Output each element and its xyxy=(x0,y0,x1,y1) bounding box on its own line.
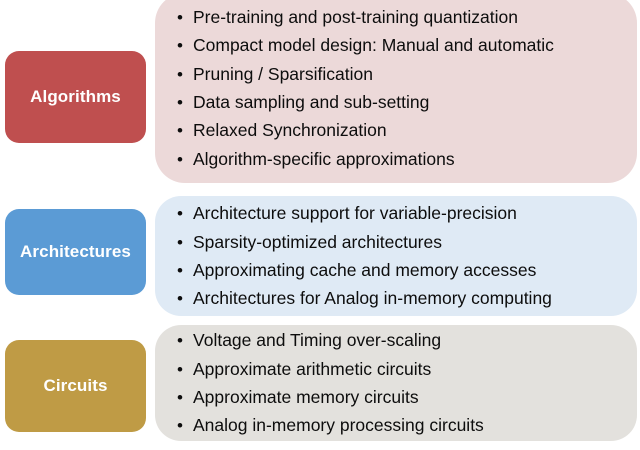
list-item: • Relaxed Synchronization xyxy=(177,116,623,144)
bullet-icon: • xyxy=(177,234,193,251)
list-item: • Approximating cache and memory accesse… xyxy=(177,256,623,284)
bullet-icon: • xyxy=(177,262,193,279)
list-item-label: Pruning / Sparsification xyxy=(193,60,373,88)
category-chip-label: Architectures xyxy=(20,242,131,262)
list-item: • Analog in-memory processing circuits xyxy=(177,411,623,439)
list-item-label: Compact model design: Manual and automat… xyxy=(193,31,554,59)
list-item: • Data sampling and sub-setting xyxy=(177,88,623,116)
list-item-label: Approximating cache and memory accesses xyxy=(193,256,536,284)
list-item-label: Pre-training and post-training quantizat… xyxy=(193,3,518,31)
techniques-panel-architectures: • Architecture support for variable-prec… xyxy=(155,196,637,316)
category-chip-architectures[interactable]: Architectures xyxy=(5,209,146,295)
list-item: • Voltage and Timing over-scaling xyxy=(177,326,623,354)
category-chip-algorithms[interactable]: Algorithms xyxy=(5,51,146,143)
list-item: • Architectures for Analog in-memory com… xyxy=(177,284,623,312)
list-item-label: Relaxed Synchronization xyxy=(193,116,387,144)
list-item-label: Approximate arithmetic circuits xyxy=(193,355,431,383)
list-item: • Pre-training and post-training quantiz… xyxy=(177,3,623,31)
bullet-icon: • xyxy=(177,361,193,378)
list-item-label: Voltage and Timing over-scaling xyxy=(193,326,441,354)
bullet-icon: • xyxy=(177,290,193,307)
list-item-label: Analog in-memory processing circuits xyxy=(193,411,484,439)
list-item-label: Data sampling and sub-setting xyxy=(193,88,429,116)
bullet-icon: • xyxy=(177,389,193,406)
bullet-icon: • xyxy=(177,332,193,349)
list-item-label: Architecture support for variable-precis… xyxy=(193,199,517,227)
diagram-row-algorithms: Algorithms • Pre-training and post-train… xyxy=(0,0,640,190)
list-item-label: Approximate memory circuits xyxy=(193,383,419,411)
list-item: • Compact model design: Manual and autom… xyxy=(177,31,623,59)
list-item: • Algorithm-specific approximations xyxy=(177,145,623,173)
list-item: • Approximate memory circuits xyxy=(177,383,623,411)
bullet-icon: • xyxy=(177,122,193,139)
bullet-icon: • xyxy=(177,94,193,111)
diagram-row-architectures: Architectures • Architecture support for… xyxy=(0,193,640,315)
list-item-label: Architectures for Analog in-memory compu… xyxy=(193,284,552,312)
list-item: • Approximate arithmetic circuits xyxy=(177,355,623,383)
bullet-icon: • xyxy=(177,9,193,26)
list-item-label: Sparsity-optimized architectures xyxy=(193,228,442,256)
category-chip-label: Algorithms xyxy=(30,87,121,107)
bullet-icon: • xyxy=(177,151,193,168)
diagram-row-circuits: Circuits • Voltage and Timing over-scali… xyxy=(0,322,640,442)
bullet-icon: • xyxy=(177,417,193,434)
bullet-icon: • xyxy=(177,205,193,222)
techniques-panel-algorithms: • Pre-training and post-training quantiz… xyxy=(155,0,637,183)
techniques-panel-circuits: • Voltage and Timing over-scaling • Appr… xyxy=(155,325,637,441)
list-item-label: Algorithm-specific approximations xyxy=(193,145,455,173)
category-chip-label: Circuits xyxy=(43,376,107,396)
bullet-icon: • xyxy=(177,66,193,83)
list-item: • Pruning / Sparsification xyxy=(177,60,623,88)
category-chip-circuits[interactable]: Circuits xyxy=(5,340,146,432)
list-item: • Architecture support for variable-prec… xyxy=(177,199,623,227)
bullet-icon: • xyxy=(177,37,193,54)
list-item: • Sparsity-optimized architectures xyxy=(177,228,623,256)
layered-techniques-diagram: Algorithms • Pre-training and post-train… xyxy=(0,0,640,450)
